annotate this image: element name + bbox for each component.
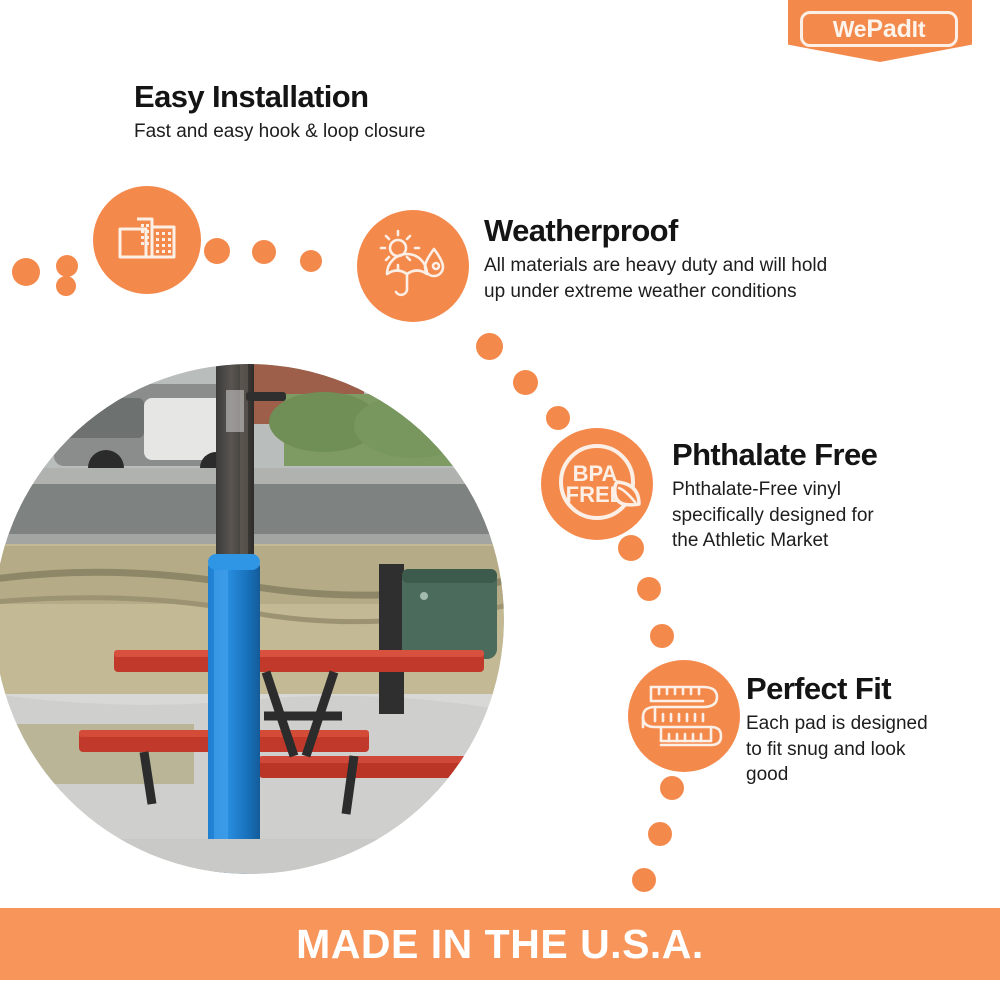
feature-text-perfect-fit: Perfect Fit Each pad is designed to fit … [746,672,928,788]
feature-description: Fast and easy hook & loop closure [134,119,426,145]
feature-title: Weatherproof [484,214,827,249]
feature-description-line: Phthalate-Free vinyl [672,477,877,503]
connector-dot [56,255,78,277]
connector-dot [476,333,503,360]
feature-description-line: Fast and easy hook & loop closure [134,119,426,145]
feature-description-line: good [746,762,928,788]
feature-description-line: Each pad is designed [746,711,928,737]
feature-title: Perfect Fit [746,672,928,707]
feature-title: Easy Installation [134,80,426,115]
icon-circle-easy-installation [93,186,201,294]
product-photo [0,364,504,874]
brand-logo-text: WePadIt [833,17,926,42]
logo-word-pad: Pad [866,15,911,43]
photo-illustration [0,364,504,874]
connector-dot [637,577,661,601]
feature-description: Phthalate-Free vinyl specifically design… [672,477,877,554]
connector-dot [252,240,276,264]
feature-text-weatherproof: Weatherproof All materials are heavy dut… [484,214,827,304]
brand-logo-frame: WePadIt [800,11,958,47]
connector-dot [618,535,644,561]
feature-text-phthalate-free: Phthalate Free Phthalate-Free vinyl spec… [672,438,877,554]
icon-circle-phthalate-free: BPA FREE [541,428,653,540]
connector-dot [204,238,230,264]
connector-dot [56,276,76,296]
connector-dot [660,776,684,800]
made-in-usa-text: MADE IN THE U.S.A. [296,921,704,968]
connector-dot [300,250,322,272]
hook-and-loop-closure-icon [112,205,182,275]
bpa-free-leaf-icon: BPA FREE [547,434,647,534]
connector-dot [632,868,656,892]
feature-title: Phthalate Free [672,438,877,473]
made-in-usa-banner: MADE IN THE U.S.A. [0,908,1000,980]
icon-circle-perfect-fit [628,660,740,772]
feature-description-line: All materials are heavy duty and will ho… [484,253,827,279]
connector-dot [648,822,672,846]
logo-word-we: We [833,16,867,42]
infographic-canvas: WePadIt Easy Installation Fast and easy … [0,0,1000,987]
connector-dot [650,624,674,648]
logo-word-it: It [912,16,926,42]
feature-description: Each pad is designed to fit snug and loo… [746,711,928,788]
umbrella-sun-raindrop-icon [374,227,452,305]
feature-text-easy-installation: Easy Installation Fast and easy hook & l… [134,80,426,145]
feature-description: All materials are heavy duty and will ho… [484,253,827,305]
connector-dot [12,258,40,286]
feature-description-line: to fit snug and look [746,737,928,763]
tape-measure-icon [641,673,727,759]
feature-description-line: the Athletic Market [672,528,877,554]
connector-dot [513,370,538,395]
icon-circle-weatherproof [357,210,469,322]
feature-description-line: specifically designed for [672,503,877,529]
connector-dot [546,406,570,430]
feature-description-line: up under extreme weather conditions [484,279,827,305]
